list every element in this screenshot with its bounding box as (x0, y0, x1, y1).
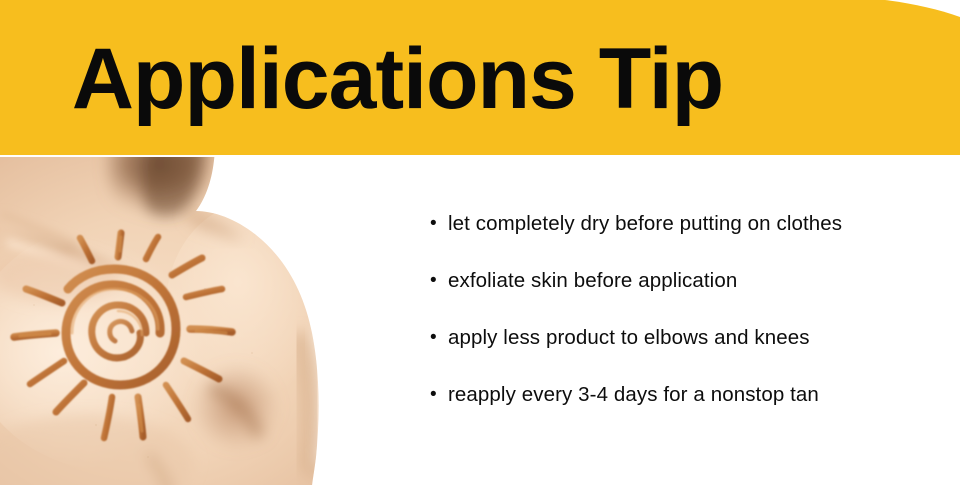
tanning-photo (0, 157, 400, 485)
list-item: • reapply every 3-4 days for a nonstop t… (430, 383, 950, 440)
header-band: Applications Tip (0, 0, 960, 157)
bullet-icon: • (430, 326, 448, 350)
tip-text: exfoliate skin before application (448, 269, 950, 293)
bullet-icon: • (430, 269, 448, 293)
bullet-icon: • (430, 212, 448, 236)
tip-text: reapply every 3-4 days for a nonstop tan (448, 383, 950, 407)
bullet-icon: • (430, 383, 448, 407)
tip-text: let completely dry before putting on clo… (448, 212, 950, 236)
list-item: • apply less product to elbows and knees (430, 326, 950, 383)
applications-tip-banner: Applications Tip (0, 0, 960, 485)
tips-list: • let completely dry before putting on c… (430, 212, 950, 440)
tip-text: apply less product to elbows and knees (448, 326, 950, 350)
list-item: • exfoliate skin before application (430, 269, 950, 326)
list-item: • let completely dry before putting on c… (430, 212, 950, 269)
page-title: Applications Tip (0, 0, 960, 157)
